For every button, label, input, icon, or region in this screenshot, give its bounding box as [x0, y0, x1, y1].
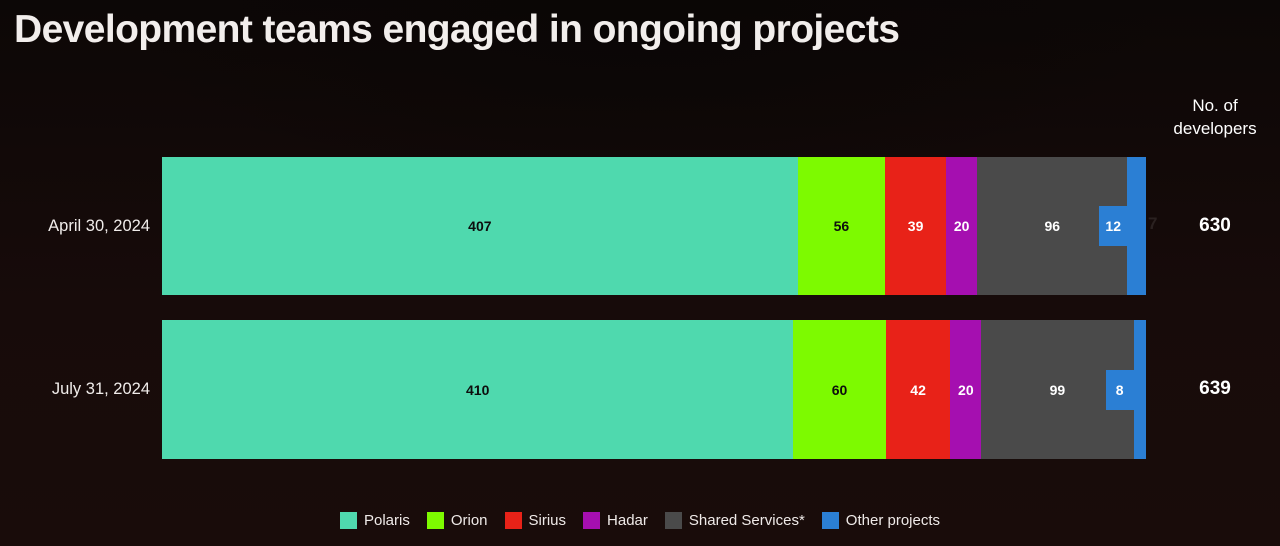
- row-category-label: April 30, 2024: [0, 217, 150, 236]
- bar-segment-value: 60: [832, 383, 848, 397]
- legend-item[interactable]: Shared Services*: [665, 512, 805, 529]
- bar-segment[interactable]: 410: [162, 320, 793, 459]
- legend-item[interactable]: Other projects: [822, 512, 940, 529]
- bar-segment-value: 407: [468, 219, 491, 233]
- legend-swatch-polaris: [340, 512, 357, 529]
- stacked-bar[interactable]: 4075639209612: [162, 157, 1146, 295]
- stacked-bar[interactable]: 410604220998: [162, 320, 1146, 459]
- legend-item[interactable]: Orion: [427, 512, 488, 529]
- row-total-value: 630: [1150, 215, 1280, 237]
- bar-segment-value: 410: [466, 383, 489, 397]
- bar-segment-value: 56: [834, 219, 850, 233]
- bar-segment[interactable]: 42: [886, 320, 951, 459]
- legend-item[interactable]: Sirius: [505, 512, 567, 529]
- legend-item-label: Other projects: [846, 512, 940, 529]
- bar-segment[interactable]: 8: [1134, 320, 1146, 459]
- bar-segment[interactable]: 12: [1127, 157, 1146, 295]
- bar-segment-value: 20: [958, 383, 974, 397]
- bar-segment[interactable]: 20: [950, 320, 981, 459]
- stacked-bar-chart: April 30, 2024 4075639209612 630 July 31…: [0, 0, 1280, 546]
- bar-segment-value: 8: [1106, 370, 1134, 410]
- legend-item-label: Polaris: [364, 512, 410, 529]
- legend-item-label: Orion: [451, 512, 488, 529]
- legend-swatch-hadar: [583, 512, 600, 529]
- legend-swatch-shared-services: [665, 512, 682, 529]
- legend-swatch-other-projects: [822, 512, 839, 529]
- bar-segment-value: 12: [1099, 206, 1127, 246]
- legend-item-label: Sirius: [529, 512, 567, 529]
- row-category-label: July 31, 2024: [0, 380, 150, 399]
- row-total-value: 639: [1150, 378, 1280, 400]
- bar-segment[interactable]: 20: [946, 157, 977, 295]
- legend-item[interactable]: Polaris: [340, 512, 410, 529]
- bar-segment-value: 42: [910, 383, 926, 397]
- bar-segment[interactable]: 407: [162, 157, 798, 295]
- bar-segment-value: 20: [954, 219, 970, 233]
- legend-swatch-orion: [427, 512, 444, 529]
- legend-swatch-sirius: [505, 512, 522, 529]
- legend-item[interactable]: Hadar: [583, 512, 648, 529]
- chart-row: April 30, 2024 4075639209612 630: [0, 157, 1280, 295]
- legend-item-label: Hadar: [607, 512, 648, 529]
- bar-segment[interactable]: 39: [885, 157, 946, 295]
- background-artifact-glyph: 7: [1148, 214, 1157, 234]
- bar-segment[interactable]: 56: [798, 157, 885, 295]
- bar-segment-value: 39: [908, 219, 924, 233]
- bar-segment[interactable]: 60: [793, 320, 885, 459]
- chart-slide: Development teams engaged in ongoing pro…: [0, 0, 1280, 546]
- legend-item-label: Shared Services*: [689, 512, 805, 529]
- chart-row: July 31, 2024 410604220998 639: [0, 320, 1280, 459]
- bar-segment-value: 99: [1050, 383, 1066, 397]
- chart-legend: PolarisOrionSiriusHadarShared Services*O…: [0, 512, 1280, 529]
- bar-segment-value: 96: [1044, 219, 1060, 233]
